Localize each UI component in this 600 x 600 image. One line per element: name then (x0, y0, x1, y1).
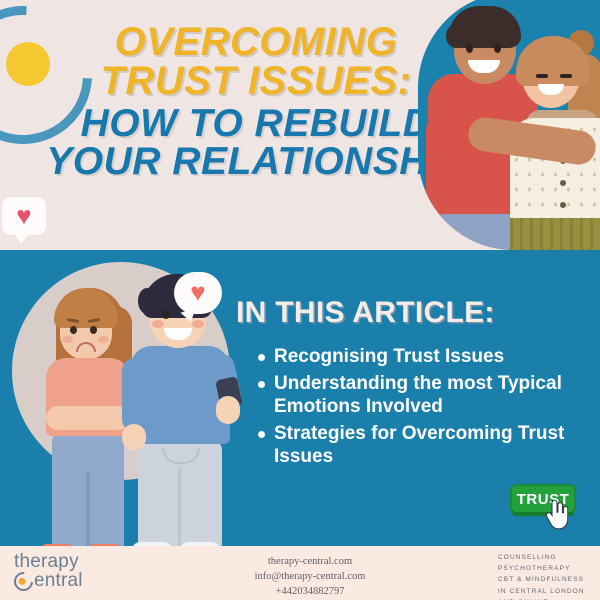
service-item: IN CENTRAL LONDON (498, 586, 598, 597)
heart-icon: ♥ (2, 202, 46, 228)
contact-details: therapy-central.com info@therapy-central… (210, 554, 410, 600)
sad-woman-eye-left (70, 326, 77, 334)
article-bullet-list: Recognising Trust Issues Understanding t… (236, 346, 588, 468)
man-eye-left (162, 310, 170, 319)
list-item: Strategies for Overcoming Trust Issues (258, 423, 588, 468)
man-eye-right (494, 44, 501, 53)
title-line-3: HOW TO REBUILD (40, 104, 472, 144)
article-heading: IN THIS ARTICLE: (236, 296, 588, 330)
logo-line-2-wrap: entral (14, 571, 83, 590)
hero-heart-speech-bubble: ♥ (2, 197, 46, 235)
hero-title-block: OVERCOMING TRUST ISSUES: HOW TO REBUILD … (40, 22, 472, 182)
man-left-hand (122, 424, 146, 450)
services-list: COUNSELLING PSYCHOTHERAPY CBT & MINDFULN… (498, 552, 598, 600)
email-address[interactable]: info@therapy-central.com (210, 569, 410, 584)
man-hair (449, 6, 521, 48)
man-blush-left (152, 320, 164, 328)
happy-couple-illustration (418, 0, 600, 250)
man-blush-right (192, 320, 204, 328)
service-item: COUNSELLING (498, 552, 598, 563)
sad-woman-jeans (52, 432, 124, 546)
heart-icon: ♥ (174, 279, 222, 305)
website-url[interactable]: therapy-central.com (210, 554, 410, 569)
woman-eye-right (560, 74, 572, 78)
title-line-1: OVERCOMING (40, 22, 472, 63)
phone-number[interactable]: +442034882797 (210, 584, 410, 599)
sad-woman-eye-right (90, 326, 97, 334)
sad-woman-blush-left (62, 336, 73, 343)
footer-bar: therapy entral therapy-central.com info@… (0, 546, 600, 600)
man-left-arm (122, 358, 148, 432)
infographic-poster: ♥ OVERCOMING TRUST ISSUES: HOW TO REBUIL… (0, 0, 600, 600)
logo-line-2: entral (34, 571, 83, 590)
cursor-hand-icon (546, 500, 568, 530)
sad-woman-crossed-arms (46, 406, 130, 430)
service-item: PSYCHOTHERAPY (498, 563, 598, 574)
article-section: ♥ IN THIS ARTICLE: Recognising Trust Iss… (0, 250, 600, 546)
article-contents-panel: IN THIS ARTICLE: Recognising Trust Issue… (236, 296, 588, 473)
woman-eye-left (536, 74, 548, 78)
title-line-2: TRUST ISSUES: (40, 61, 472, 102)
trust-button-group[interactable]: TRUST (512, 486, 574, 512)
man-left-arm (426, 112, 462, 208)
hero-section: ♥ OVERCOMING TRUST ISSUES: HOW TO REBUIL… (0, 0, 600, 250)
man-eye-left (466, 44, 473, 53)
list-item: Understanding the most Typical Emotions … (258, 373, 588, 418)
logo-line-1: therapy (14, 552, 83, 571)
service-item: CBT & MINDFULNESS (498, 574, 598, 585)
title-line-4: YOUR RELATIONSHIP (40, 142, 472, 182)
sad-woman-blush-right (98, 336, 109, 343)
illustration-circle-backdrop: ♥ (12, 262, 230, 480)
heart-speech-bubble: ♥ (174, 272, 222, 314)
list-item: Recognising Trust Issues (258, 346, 588, 368)
therapy-central-logo[interactable]: therapy entral (14, 552, 83, 591)
